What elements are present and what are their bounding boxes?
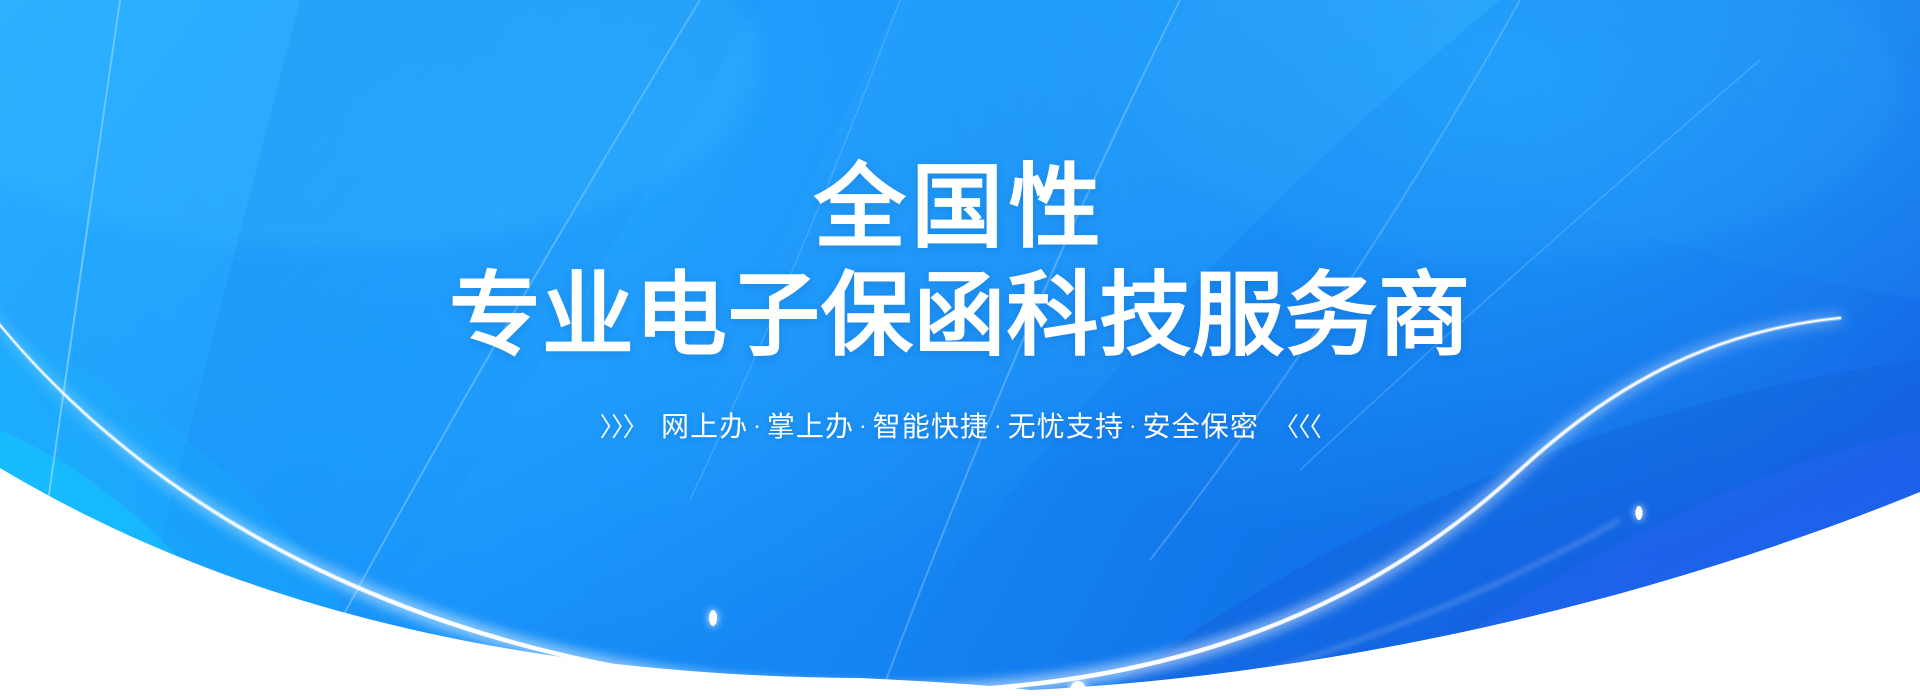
hero-banner: 全国性 专业电子保函科技服务商 〉〉〉网上办·掌上办·智能快捷·无忧支持·安全保… — [0, 0, 1920, 696]
background-decoration — [0, 0, 1920, 696]
